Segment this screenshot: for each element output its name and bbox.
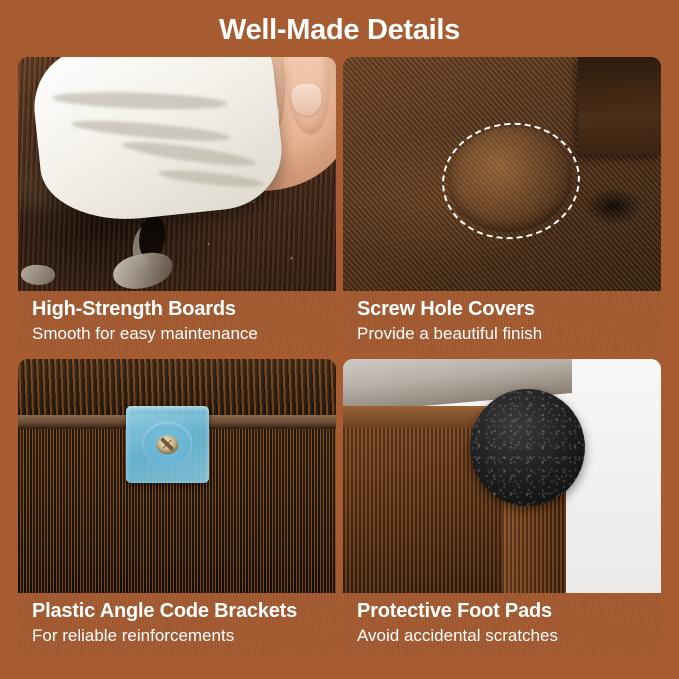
caption-subtitle: Smooth for easy maintenance — [32, 322, 336, 346]
caption-title: Plastic Angle Code Brackets — [32, 599, 336, 624]
plastic-angle-bracket-graphic — [126, 406, 209, 483]
bracket-recess-graphic — [143, 422, 193, 467]
feature-card-protective-foot-pads[interactable]: Protective Foot Pads Avoid accidental sc… — [343, 359, 661, 655]
image-screw-hole-cover-highlighted-with-dashed-circle — [343, 57, 661, 291]
feature-card-plastic-angle-code-brackets[interactable]: Plastic Angle Code Brackets For reliable… — [18, 359, 336, 655]
caption-subtitle: Provide a beautiful finish — [357, 322, 661, 346]
phillips-screw-graphic — [157, 435, 179, 454]
screw-cross-slot-icon — [160, 437, 174, 451]
caption-title: Screw Hole Covers — [357, 297, 661, 322]
caption-title: Protective Foot Pads — [357, 599, 661, 624]
image-black-felt-foot-pad-on-wooden-leg — [343, 359, 661, 593]
feature-card-grid: High-Strength Boards Smooth for easy mai… — [18, 57, 661, 655]
caption-subtitle: Avoid accidental scratches — [357, 624, 661, 648]
felt-foot-pad-graphic — [470, 389, 584, 506]
page-title: Well-Made Details — [0, 10, 679, 50]
plank-edge-graphic — [578, 57, 661, 155]
felt-texture-graphic — [470, 389, 584, 506]
caption-high-strength-boards: High-Strength Boards Smooth for easy mai… — [18, 291, 336, 353]
image-blue-plastic-bracket-with-phillips-screw — [18, 359, 336, 593]
caption-screw-hole-covers: Screw Hole Covers Provide a beautiful fi… — [343, 291, 661, 353]
caption-subtitle: For reliable reinforcements — [32, 624, 336, 648]
image-hand-wiping-wood-surface-with-white-cloth — [18, 57, 336, 291]
feature-card-high-strength-boards[interactable]: High-Strength Boards Smooth for easy mai… — [18, 57, 336, 353]
caption-plastic-angle-code-brackets: Plastic Angle Code Brackets For reliable… — [18, 593, 336, 655]
caption-protective-foot-pads: Protective Foot Pads Avoid accidental sc… — [343, 593, 661, 655]
caption-title: High-Strength Boards — [32, 297, 336, 322]
feature-card-screw-hole-covers[interactable]: Screw Hole Covers Provide a beautiful fi… — [343, 57, 661, 353]
